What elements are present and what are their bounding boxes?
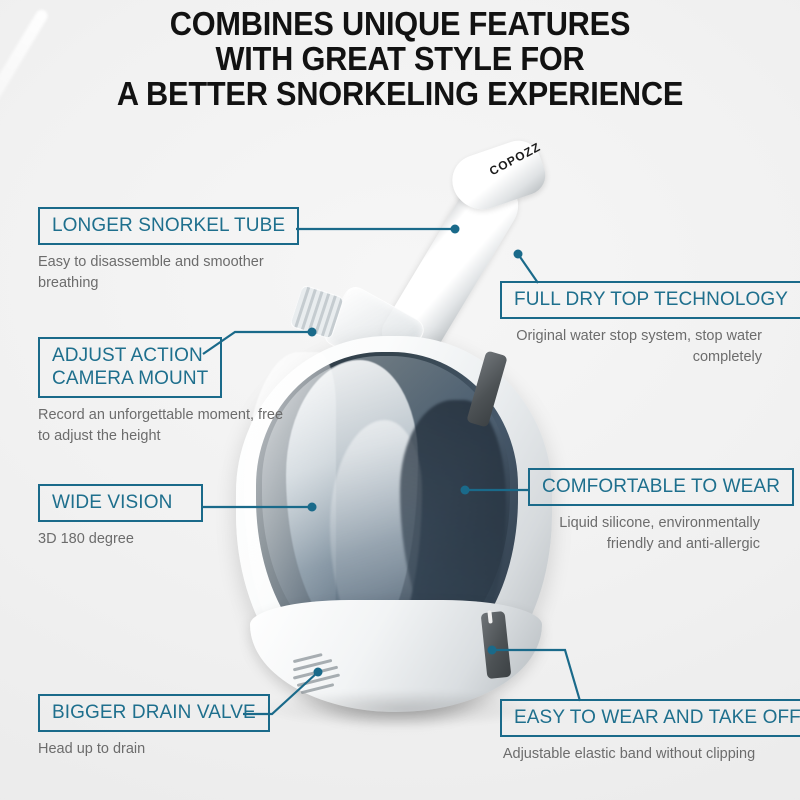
callout-easy-to-wear-and-take-off[interactable]: EASY TO WEAR AND TAKE OFF Adjustable ela… xyxy=(500,699,800,765)
callout-box-bigger-drain-valve[interactable]: BIGGER DRAIN VALVE xyxy=(38,694,270,732)
callout-desc-longer-snorkel-tube: Easy to disassemble and smoother breathi… xyxy=(38,252,306,294)
callout-label-full-dry-top-technology: FULL DRY TOP TECHNOLOGY xyxy=(514,288,788,311)
callout-desc-easy-to-wear-and-take-off: Adjustable elastic band without clipping xyxy=(484,744,774,765)
callout-label-comfortable-to-wear: COMFORTABLE TO WEAR xyxy=(542,475,780,498)
callout-box-wide-vision[interactable]: WIDE VISION xyxy=(38,484,203,522)
callout-desc-full-dry-top-technology: Original water stop system, stop water c… xyxy=(500,326,762,368)
callout-adjust-action-camera-mount[interactable]: ADJUST ACTION CAMERA MOUNT Record an unf… xyxy=(38,337,284,447)
callout-full-dry-top-technology[interactable]: FULL DRY TOP TECHNOLOGY Original water s… xyxy=(500,281,800,368)
callout-label-easy-to-wear-and-take-off: EASY TO WEAR AND TAKE OFF xyxy=(514,706,800,729)
callout-desc-wide-vision: 3D 180 degree xyxy=(38,529,278,550)
callout-label-wide-vision: WIDE VISION xyxy=(52,491,189,514)
callout-wide-vision[interactable]: WIDE VISION 3D 180 degree xyxy=(38,484,278,550)
callout-box-easy-to-wear-and-take-off[interactable]: EASY TO WEAR AND TAKE OFF xyxy=(500,699,800,737)
snorkel-tube-highlight xyxy=(0,8,50,143)
callout-box-comfortable-to-wear[interactable]: COMFORTABLE TO WEAR xyxy=(528,468,794,506)
callout-comfortable-to-wear[interactable]: COMFORTABLE TO WEAR Liquid silicone, env… xyxy=(528,468,794,555)
callout-desc-comfortable-to-wear: Liquid silicone, environmentally friendl… xyxy=(528,513,760,555)
callout-label-longer-snorkel-tube: LONGER SNORKEL TUBE xyxy=(52,214,285,237)
callout-label-line1-adjust-action-camera-mount: ADJUST ACTION xyxy=(52,344,208,367)
callout-desc-adjust-action-camera-mount: Record an unforgettable moment, free to … xyxy=(38,405,284,447)
callout-bigger-drain-valve[interactable]: BIGGER DRAIN VALVE Head up to drain xyxy=(38,694,278,760)
callout-label-line2-adjust-action-camera-mount: CAMERA MOUNT xyxy=(52,367,208,390)
callout-box-adjust-action-camera-mount[interactable]: ADJUST ACTION CAMERA MOUNT xyxy=(38,337,222,398)
infographic-canvas: COMBINES UNIQUE FEATURES WITH GREAT STYL… xyxy=(0,0,800,800)
callout-label-bigger-drain-valve: BIGGER DRAIN VALVE xyxy=(52,701,256,724)
callout-desc-bigger-drain-valve: Head up to drain xyxy=(38,739,278,760)
callout-longer-snorkel-tube[interactable]: LONGER SNORKEL TUBE Easy to disassemble … xyxy=(38,207,306,294)
callout-box-longer-snorkel-tube[interactable]: LONGER SNORKEL TUBE xyxy=(38,207,299,245)
callout-box-full-dry-top-technology[interactable]: FULL DRY TOP TECHNOLOGY xyxy=(500,281,800,319)
